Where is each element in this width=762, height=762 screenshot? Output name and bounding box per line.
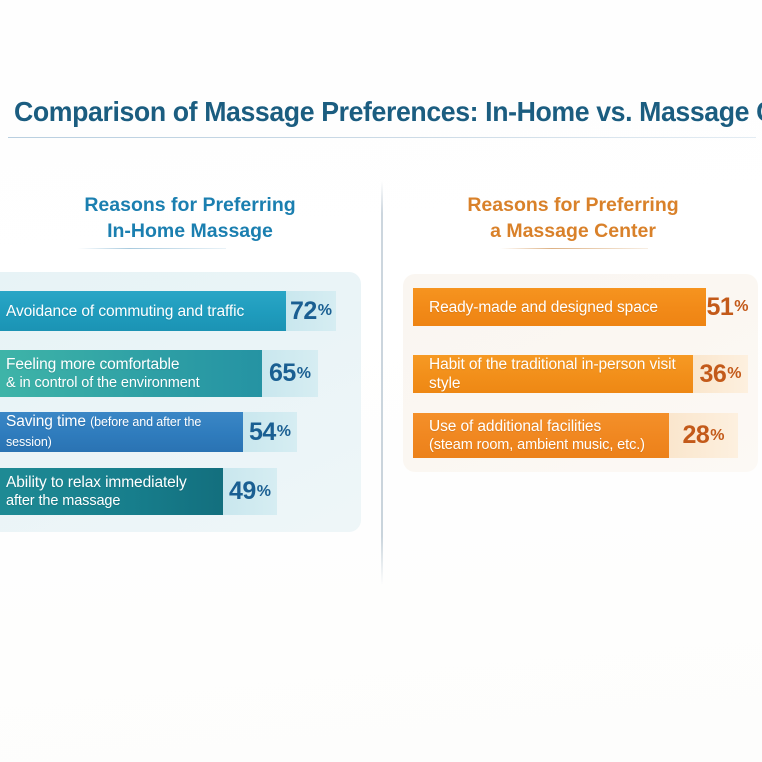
right-bar-value-percent-2: % [727,365,741,383]
left-bar-label-main-4: Ability to relax immediately [6,474,187,491]
left-bar-label-line2-4: after the massage [6,492,187,511]
right-bar-value-1: 51% [706,288,749,326]
left-bar-fill-1: Avoidance of commuting and traffic [0,291,286,331]
left-bar-fill-2: Feeling more comfortable & in control of… [0,350,262,397]
right-bar-label-line2-3: (steam room, ambient music, etc.) [429,436,645,455]
left-bar-label-4: Ability to relax immediately after the m… [6,473,187,511]
right-heading-line-1: Reasons for Preferring [403,192,743,218]
column-divider [381,181,383,585]
left-bar-row-2: Feeling more comfortable & in control of… [0,350,318,397]
left-bar-fill-3: Saving time (before and after the sessio… [0,412,243,452]
right-bar-label-3: Use of additional facilities (steam room… [429,417,645,455]
left-bar-label-3: Saving time (before and after the sessio… [6,412,243,452]
left-bar-value-number-1: 72 [290,297,317,326]
right-bar-fill-1: Ready-made and designed space [413,288,706,326]
left-heading-line-2: In-Home Massage [20,218,360,244]
right-bar-value-3: 28% [669,413,738,458]
right-bar-fill-2: Habit of the traditional in-person visit… [413,355,693,393]
right-bar-label-main-1: Ready-made and designed space [429,299,658,316]
left-bar-value-percent-4: % [257,483,271,501]
left-bar-label-main-1: Avoidance of commuting and traffic [6,303,244,320]
right-bar-row-2: Habit of the traditional in-person visit… [413,355,748,393]
title-block: Comparison of Massage Preferences: In-Ho… [0,92,762,144]
right-bar-label-1: Ready-made and designed space [429,298,658,317]
left-bar-value-4: 49% [223,468,277,515]
left-bar-label-main-3: Saving time [6,413,90,430]
left-bar-row-4: Ability to relax immediately after the m… [0,468,277,515]
left-bar-value-percent-2: % [297,365,311,383]
infographic-canvas: Comparison of Massage Preferences: In-Ho… [0,0,762,762]
left-bar-label-1: Avoidance of commuting and traffic [6,302,244,321]
right-bar-value-percent-1: % [734,298,748,316]
left-heading-underline [78,248,226,249]
left-bar-value-number-3: 54 [249,418,276,447]
left-bar-value-2: 65% [262,350,318,397]
right-column-heading: Reasons for Preferring a Massage Center [403,192,743,244]
title-divider [8,137,756,138]
left-bar-value-percent-3: % [277,423,291,441]
left-bar-fill-4: Ability to relax immediately after the m… [0,468,223,515]
right-bar-fill-3: Use of additional facilities (steam room… [413,413,669,458]
right-bar-value-number-2: 36 [699,360,726,389]
right-bar-row-1: Ready-made and designed space 51% [413,288,749,326]
right-bar-label-main-2: Habit of the traditional in-person visit… [429,356,676,392]
right-heading-underline [500,248,648,249]
right-bar-value-number-3: 28 [682,421,709,450]
left-bar-value-1: 72% [286,291,336,331]
left-bar-value-number-2: 65 [269,359,296,388]
right-heading-line-2: a Massage Center [403,218,743,244]
left-bar-row-3: Saving time (before and after the sessio… [0,412,297,452]
left-bar-value-number-4: 49 [229,477,256,506]
right-bar-value-number-1: 51 [706,293,733,322]
left-bar-label-main-2: Feeling more comfortable [6,356,179,373]
left-column-heading: Reasons for Preferring In-Home Massage [20,192,360,244]
left-bar-value-percent-1: % [318,302,332,320]
left-bar-value-3: 54% [243,412,297,452]
left-bar-label-2: Feeling more comfortable & in control of… [6,355,200,393]
left-heading-line-1: Reasons for Preferring [20,192,360,218]
left-bar-row-1: Avoidance of commuting and traffic 72% [0,291,336,331]
right-bar-row-3: Use of additional facilities (steam room… [413,413,738,458]
right-bar-value-2: 36% [693,355,748,393]
left-bar-label-line2-2: & in control of the environment [6,374,200,393]
right-bar-value-percent-3: % [710,427,724,445]
page-title: Comparison of Massage Preferences: In-Ho… [14,92,736,132]
right-bar-label-2: Habit of the traditional in-person visit… [429,355,693,393]
right-bar-label-main-3: Use of additional facilities [429,418,601,435]
